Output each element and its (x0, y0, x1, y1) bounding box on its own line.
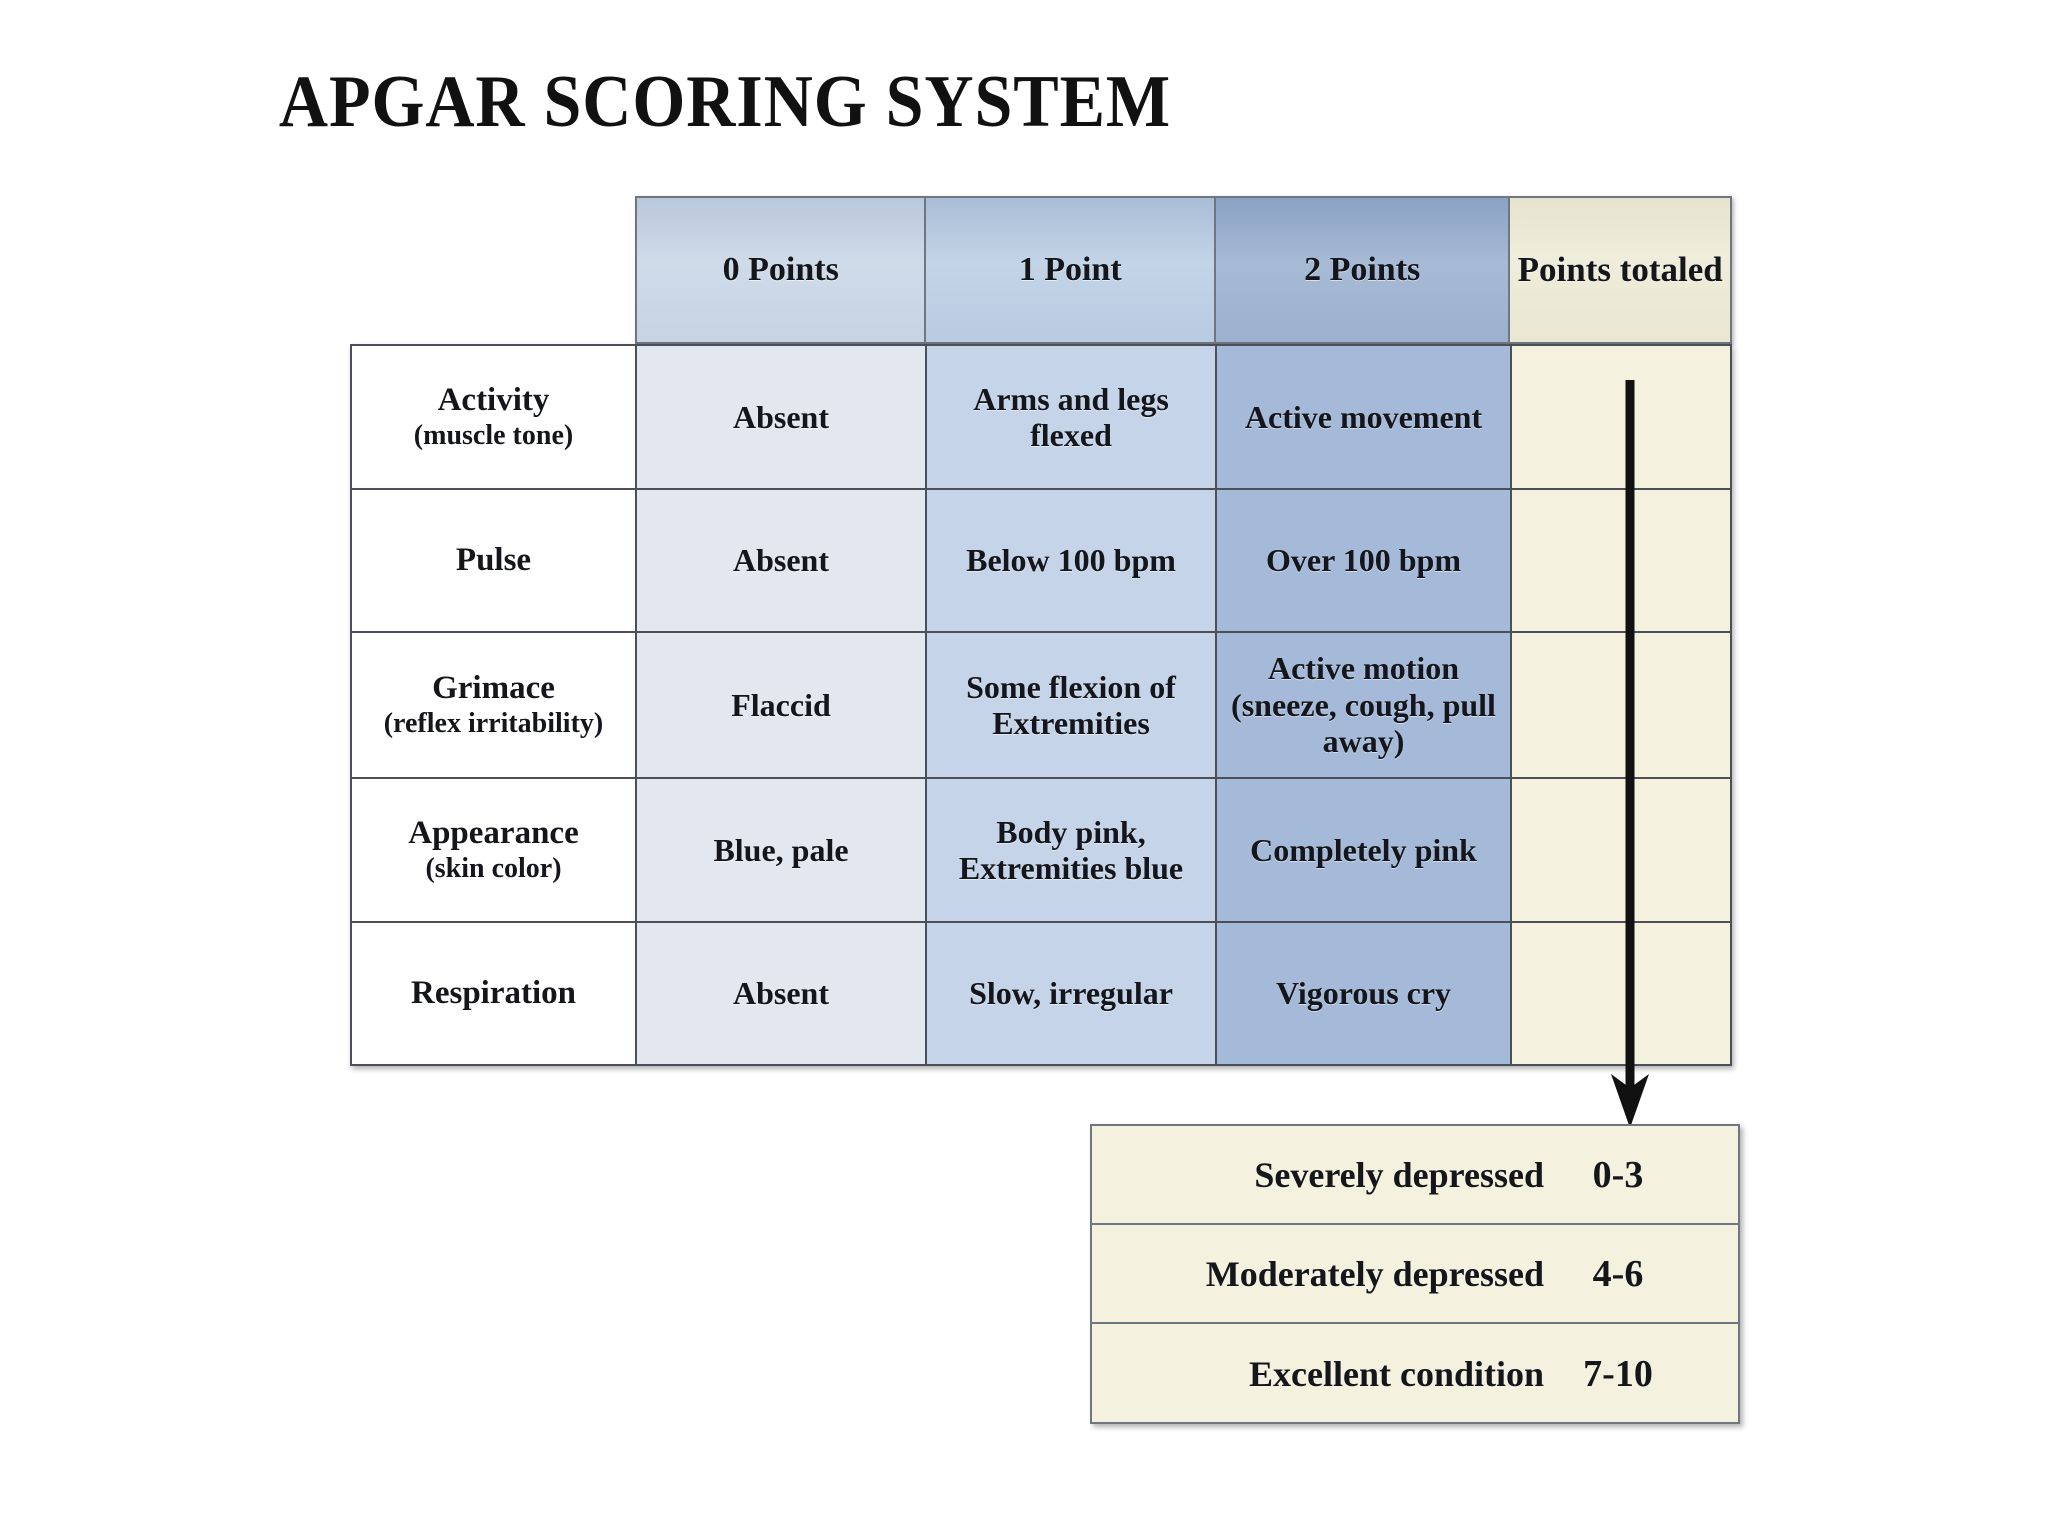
cell-pulse-1-point: Below 100 bpm (927, 490, 1217, 631)
cell-activity-0-points: Absent (637, 346, 927, 488)
table-header-row: 0 Points 1 Point 2 Points Points totaled (635, 196, 1732, 344)
legend-label-severely-depressed: Severely depressed (1254, 1154, 1544, 1196)
legend-row: Moderately depressed 4-6 (1092, 1225, 1738, 1324)
table-row: Grimace (reflex irritability) Flaccid So… (352, 633, 1730, 779)
column-header-0-points: 0 Points (637, 198, 926, 342)
row-label-name: Grimace (384, 670, 604, 708)
row-label-grimace: Grimace (reflex irritability) (352, 633, 637, 777)
table-row: Respiration Absent Slow, irregular Vigor… (352, 923, 1730, 1064)
row-label-respiration: Respiration (352, 923, 637, 1064)
row-label-sub: (skin color) (408, 853, 578, 885)
row-label-name: Pulse (456, 542, 531, 580)
legend-row: Excellent condition 7-10 (1092, 1324, 1738, 1423)
cell-pulse-0-points: Absent (637, 490, 927, 631)
legend-range-moderately-depressed: 4-6 (1558, 1252, 1678, 1296)
cell-grimace-1-point: Some flexion of Extremities (927, 633, 1217, 777)
cell-activity-2-points: Active movement (1217, 346, 1512, 488)
cell-appearance-0-points: Blue, pale (637, 779, 927, 921)
column-header-points-totaled: Points totaled (1510, 198, 1730, 342)
table-row: Pulse Absent Below 100 bpm Over 100 bpm (352, 490, 1730, 633)
row-label-name: Activity (414, 382, 573, 420)
row-label-sub: (muscle tone) (414, 420, 573, 452)
cell-activity-1-point: Arms and legs flexed (927, 346, 1217, 488)
cell-grimace-2-points: Active motion (sneeze, cough, pull away) (1217, 633, 1512, 777)
row-label-name: Respiration (411, 975, 576, 1013)
row-label-sub: (reflex irritability) (384, 708, 604, 740)
column-header-1-point: 1 Point (926, 198, 1215, 342)
cell-respiration-1-point: Slow, irregular (927, 923, 1217, 1064)
apgar-table: 0 Points 1 Point 2 Points Points totaled… (350, 196, 1732, 1068)
column-header-2-points: 2 Points (1216, 198, 1510, 342)
down-arrow-icon (1608, 380, 1652, 1128)
cell-respiration-2-points: Vigorous cry (1217, 923, 1512, 1064)
apgar-scoring-figure: APGAR SCORING SYSTEM 0 Points 1 Point 2 … (0, 0, 2048, 1536)
cell-pulse-2-points: Over 100 bpm (1217, 490, 1512, 631)
legend-label-excellent-condition: Excellent condition (1249, 1353, 1544, 1395)
cell-appearance-2-points: Completely pink (1217, 779, 1512, 921)
cell-appearance-1-point: Body pink, Extremities blue (927, 779, 1217, 921)
legend-range-excellent-condition: 7-10 (1558, 1352, 1678, 1396)
row-label-activity: Activity (muscle tone) (352, 346, 637, 488)
cell-grimace-0-points: Flaccid (637, 633, 927, 777)
legend-range-severely-depressed: 0-3 (1558, 1153, 1678, 1197)
score-interpretation-legend: Severely depressed 0-3 Moderately depres… (1090, 1124, 1740, 1424)
row-label-pulse: Pulse (352, 490, 637, 631)
table-row: Activity (muscle tone) Absent Arms and l… (352, 346, 1730, 490)
page-title: APGAR SCORING SYSTEM (58, 60, 1392, 145)
row-label-name: Appearance (408, 815, 578, 853)
cell-respiration-0-points: Absent (637, 923, 927, 1064)
legend-row: Severely depressed 0-3 (1092, 1126, 1738, 1225)
table-row: Appearance (skin color) Blue, pale Body … (352, 779, 1730, 923)
row-label-appearance: Appearance (skin color) (352, 779, 637, 921)
table-body: Activity (muscle tone) Absent Arms and l… (350, 344, 1732, 1066)
legend-label-moderately-depressed: Moderately depressed (1206, 1253, 1544, 1295)
